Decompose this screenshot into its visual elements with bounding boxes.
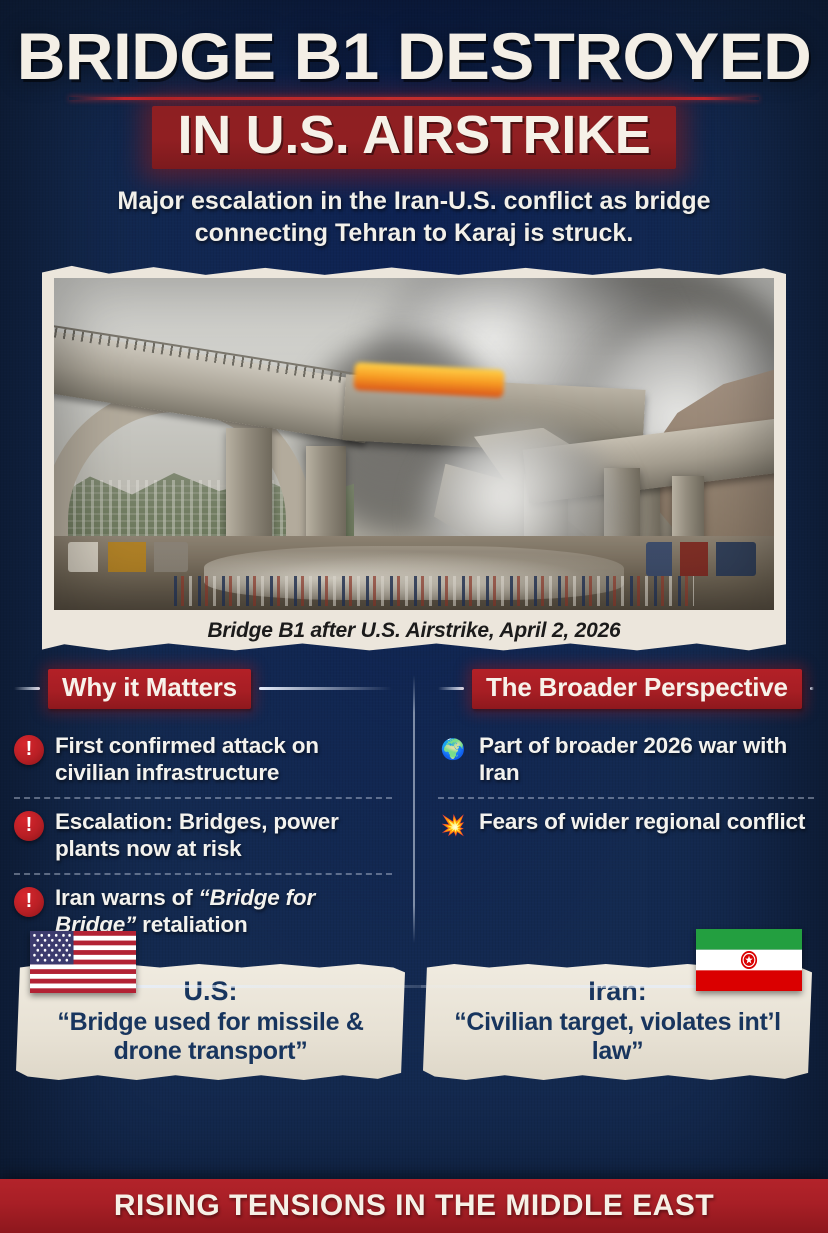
- bridge-destruction-photo: [54, 278, 774, 610]
- subtitle: Major escalation in the Iran-U.S. confli…: [64, 185, 764, 249]
- section-why-it-matters: Why it Matters ! First confirmed attack …: [14, 669, 414, 949]
- bullet-text-tail: retaliation: [136, 912, 247, 937]
- connector-line-right: [421, 985, 721, 988]
- list-item: ! First confirmed attack on civilian inf…: [14, 723, 392, 797]
- quote-wrapper-iran: Iran: “Civilian target, violates int’l l…: [423, 963, 812, 1083]
- list-item: ! Escalation: Bridges, power plants now …: [14, 797, 392, 873]
- quote-cards: U.S: “Bridge used for missile & drone tr…: [16, 963, 812, 1083]
- headline-block: BRIDGE B1 DESTROYED IN U.S. AIRSTRIKE: [0, 0, 828, 169]
- exclamation-icon: !: [14, 811, 44, 841]
- section-header: Why it Matters: [14, 669, 392, 709]
- quote-text: “Bridge used for missile & drone transpo…: [32, 1008, 389, 1066]
- bullet-text-lead: Iran warns of: [55, 885, 198, 910]
- rule-right: [810, 687, 814, 690]
- exclamation-icon: !: [14, 887, 44, 917]
- explosion-icon: 💥: [438, 811, 468, 841]
- photo-caption: Bridge B1 after U.S. Airstrike, April 2,…: [54, 619, 774, 643]
- headline-red-band: IN U.S. AIRSTRIKE: [152, 106, 677, 169]
- headline-line-1: BRIDGE B1 DESTROYED: [0, 24, 828, 89]
- us-flag-icon: [30, 931, 136, 993]
- section-title-broader-perspective: The Broader Perspective: [472, 669, 802, 709]
- quote-wrapper-us: U.S: “Bridge used for missile & drone tr…: [16, 963, 405, 1083]
- section-broader-perspective: The Broader Perspective 🌍 Part of broade…: [414, 669, 814, 949]
- headline-line-2: IN U.S. AIRSTRIKE: [178, 108, 651, 163]
- section-header: The Broader Perspective: [438, 669, 814, 709]
- section-title-why-it-matters: Why it Matters: [48, 669, 251, 709]
- column-divider: [413, 675, 415, 943]
- bullet-text: Fears of wider regional conflict: [479, 808, 805, 835]
- bullet-text: Iran warns of “Bridge for Bridge” retali…: [55, 884, 392, 938]
- analysis-columns: Why it Matters ! First confirmed attack …: [0, 669, 828, 949]
- bullet-text: Part of broader 2026 war with Iran: [479, 732, 814, 786]
- photo-vignette: [54, 278, 774, 610]
- quote-text: “Civilian target, violates int’l law”: [439, 1008, 796, 1066]
- bullet-text: Escalation: Bridges, power plants now at…: [55, 808, 392, 862]
- footer-banner: RISING TENSIONS IN THE MIDDLE EAST: [0, 1179, 828, 1233]
- list-item: 🌍 Part of broader 2026 war with Iran: [438, 723, 814, 797]
- footer-banner-text: RISING TENSIONS IN THE MIDDLE EAST: [114, 1189, 714, 1223]
- rule-left: [438, 687, 464, 690]
- rule-right: [259, 687, 392, 690]
- photo-frame: Bridge B1 after U.S. Airstrike, April 2,…: [42, 265, 786, 653]
- bullet-text: First confirmed attack on civilian infra…: [55, 732, 392, 786]
- exclamation-icon: !: [14, 735, 44, 765]
- list-item: 💥 Fears of wider regional conflict: [438, 797, 814, 852]
- connector-line-left: [126, 985, 426, 988]
- headline-red-rule: [69, 97, 759, 100]
- globe-icon: 🌍: [438, 735, 468, 765]
- iran-flag-icon: [696, 929, 802, 991]
- infographic-poster: BRIDGE B1 DESTROYED IN U.S. AIRSTRIKE Ma…: [0, 0, 828, 1233]
- rule-left: [14, 687, 40, 690]
